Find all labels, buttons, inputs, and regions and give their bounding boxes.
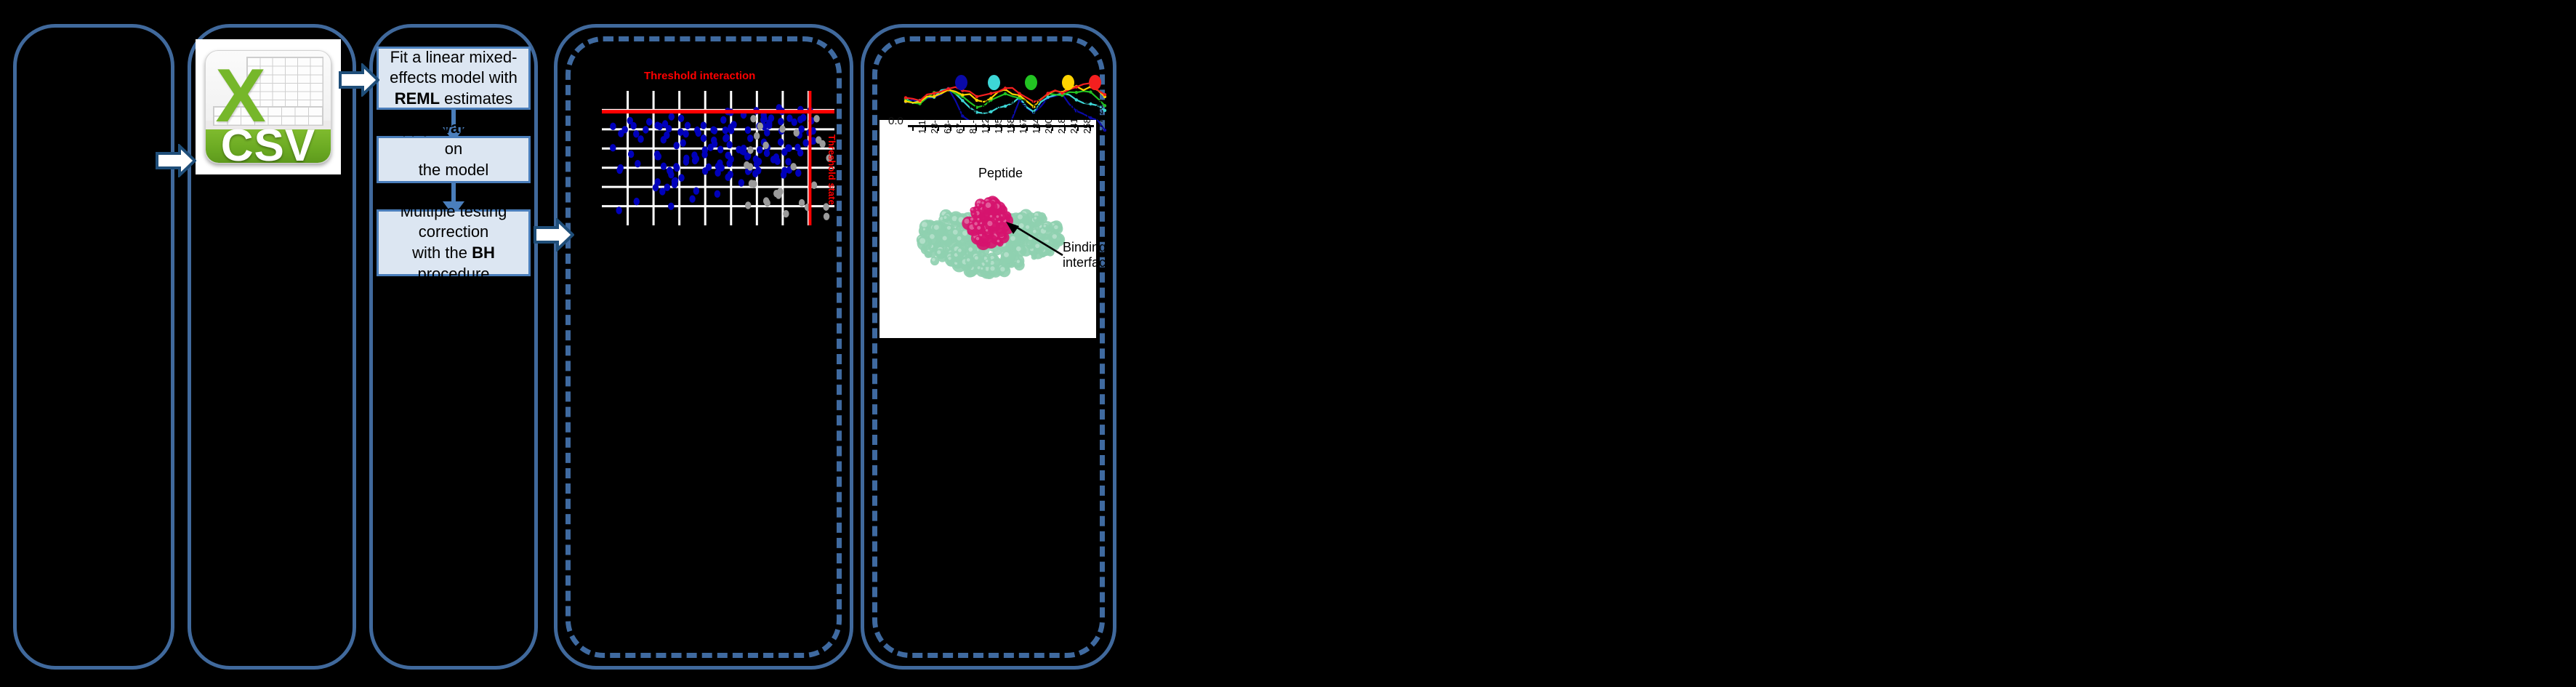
- step-bh-line-3: with the BH procedure: [385, 243, 523, 284]
- step-bh-box[interactable]: Multiple testingcorrectionwith the BH pr…: [377, 209, 531, 276]
- step-wald-box[interactable]: Apply Wald tests onthe model parameters: [377, 136, 531, 183]
- csv-extension-band: CSV: [206, 129, 331, 163]
- step-reml-box[interactable]: Fit a linear mixed-effects model withREM…: [377, 47, 531, 110]
- peptide-tick-mark: [1090, 125, 1091, 131]
- peptide-tick-mark: [938, 125, 939, 131]
- diagram-canvas: X CSV Fit a linear mixed-effects model w…: [0, 0, 2576, 687]
- threshold-state-label: Threshold state: [826, 134, 837, 205]
- connector-wald-to-bh: [451, 183, 456, 204]
- step-reml-text: Fit a linear mixed-effects model withREM…: [385, 47, 523, 110]
- peptide-tick-mark: [1039, 125, 1040, 131]
- peptide-tick-mark: [1064, 125, 1066, 131]
- peptide-tick-mark: [925, 125, 926, 131]
- arrow-input-to-csv: [156, 144, 196, 177]
- peptide-tick-mark: [950, 125, 951, 131]
- step-reml-line-1: Fit a linear mixed-: [385, 47, 523, 68]
- peptide-tick-mark: [975, 125, 977, 131]
- input-panel: [13, 24, 174, 670]
- peptide-tick-mark: [1001, 125, 1002, 131]
- csv-extension-label: CSV: [221, 120, 315, 164]
- peptide-tick-label: 1-15: [917, 115, 927, 134]
- step-reml-line-3: REML estimates: [385, 89, 523, 110]
- peptide-tick-mark: [1077, 125, 1079, 131]
- legend-dot-navy: [955, 75, 967, 90]
- csv-file-icon: X CSV: [196, 40, 340, 174]
- peptide-tick-mark: [1013, 125, 1015, 131]
- scatter-plot: [602, 91, 834, 225]
- peptide-tick-mark: [1052, 125, 1053, 131]
- y-axis-first-tick-label: 0.0: [888, 115, 903, 127]
- arrow-csv-to-stats: [339, 63, 379, 97]
- csv-icon-body: X CSV: [205, 50, 331, 164]
- step-reml-line-2: effects model with: [385, 68, 523, 89]
- arrow-stats-to-results: [534, 218, 574, 252]
- step-wald-line-1: Apply Wald tests on: [385, 118, 523, 159]
- peptide-tick-label: 277-284: [1094, 99, 1105, 134]
- peptide-axis-title: Peptide: [978, 166, 1023, 181]
- step-bh-line-1: Multiple testing: [385, 201, 523, 222]
- peptide-tick-mark: [963, 125, 965, 131]
- legend-dot-cyan: [988, 75, 1000, 90]
- legend-dot-green: [1025, 75, 1037, 90]
- csv-spreadsheet-graphic: X: [213, 57, 323, 126]
- peptide-tick-mark: [1026, 125, 1028, 131]
- step-bh-line-2: correction: [385, 222, 523, 243]
- binding-interface-label: Binding interface: [1063, 240, 1113, 270]
- binding-interface-line1: Binding: [1063, 240, 1113, 255]
- peptide-tick-mark: [912, 125, 914, 131]
- legend-dot-red: [1089, 75, 1101, 90]
- scatter-plot-title: Threshold interaction: [644, 70, 755, 82]
- binding-interface-line2: interface: [1063, 255, 1113, 270]
- step-bh-text: Multiple testingcorrectionwith the BH pr…: [385, 201, 523, 284]
- peptide-tick-mark: [989, 125, 990, 131]
- legend-dot-yellow: [1062, 75, 1074, 90]
- binding-interface-callout-arrow: [1003, 222, 1066, 258]
